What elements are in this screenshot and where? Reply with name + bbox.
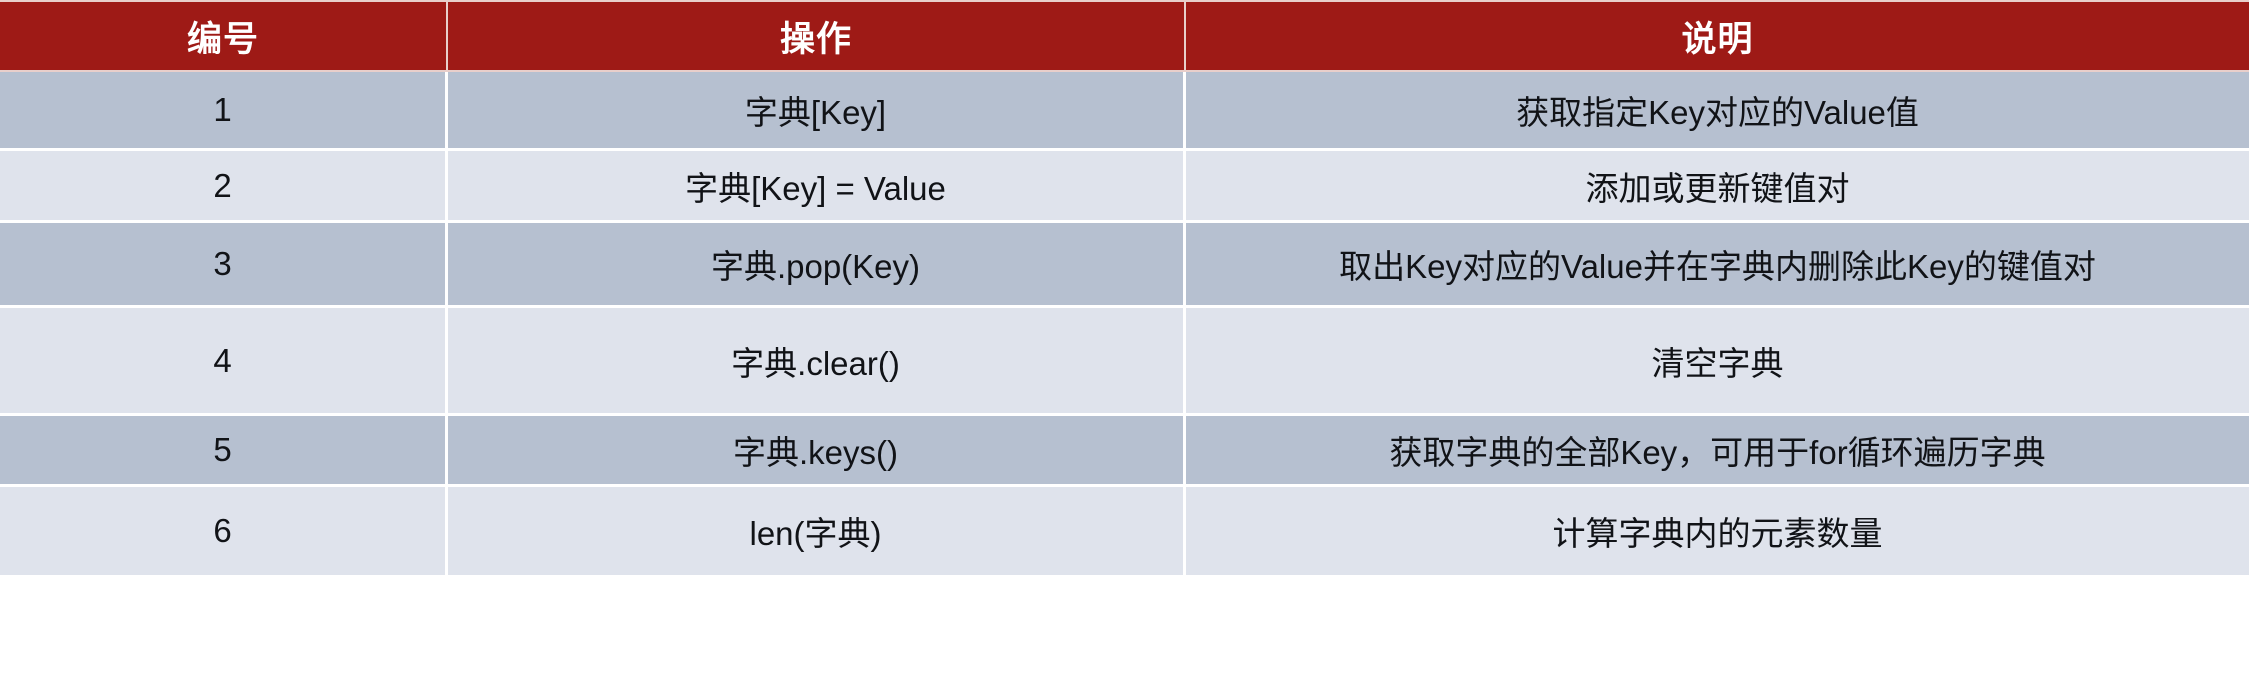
cell-operation: len(字典) (448, 487, 1186, 575)
cell-operation: 字典.pop(Key) (448, 223, 1186, 305)
table-row: 5 字典.keys() 获取字典的全部Key，可用于for循环遍历字典 (0, 416, 2249, 484)
cell-operation: 字典[Key] (448, 72, 1186, 148)
cell-number: 3 (0, 223, 448, 305)
column-header-number: 编号 (0, 2, 448, 70)
column-header-operation: 操作 (448, 2, 1186, 70)
table-header-row: 编号 操作 说明 (0, 0, 2249, 72)
dictionary-operations-table: 编号 操作 说明 1 字典[Key] 获取指定Key对应的Value值 2 字典… (0, 0, 2249, 679)
table-row: 3 字典.pop(Key) 取出Key对应的Value并在字典内删除此Key的键… (0, 223, 2249, 305)
cell-description: 清空字典 (1186, 308, 2249, 413)
cell-description: 取出Key对应的Value并在字典内删除此Key的键值对 (1186, 223, 2249, 305)
table-body: 1 字典[Key] 获取指定Key对应的Value值 2 字典[Key] = V… (0, 72, 2249, 679)
cell-description: 计算字典内的元素数量 (1186, 487, 2249, 575)
cell-description: 获取指定Key对应的Value值 (1186, 72, 2249, 148)
cell-number: 2 (0, 151, 448, 220)
cell-number: 6 (0, 487, 448, 575)
cell-number: 5 (0, 416, 448, 484)
table-row: 1 字典[Key] 获取指定Key对应的Value值 (0, 72, 2249, 148)
cell-operation: 字典.clear() (448, 308, 1186, 413)
cell-description: 获取字典的全部Key，可用于for循环遍历字典 (1186, 416, 2249, 484)
cell-operation: 字典.keys() (448, 416, 1186, 484)
cell-operation: 字典[Key] = Value (448, 151, 1186, 220)
table-row: 6 len(字典) 计算字典内的元素数量 (0, 487, 2249, 575)
cell-number: 1 (0, 72, 448, 148)
column-header-description: 说明 (1186, 2, 2249, 70)
table-row: 4 字典.clear() 清空字典 (0, 308, 2249, 413)
cell-number: 4 (0, 308, 448, 413)
cell-description: 添加或更新键值对 (1186, 151, 2249, 220)
table-row: 2 字典[Key] = Value 添加或更新键值对 (0, 151, 2249, 220)
